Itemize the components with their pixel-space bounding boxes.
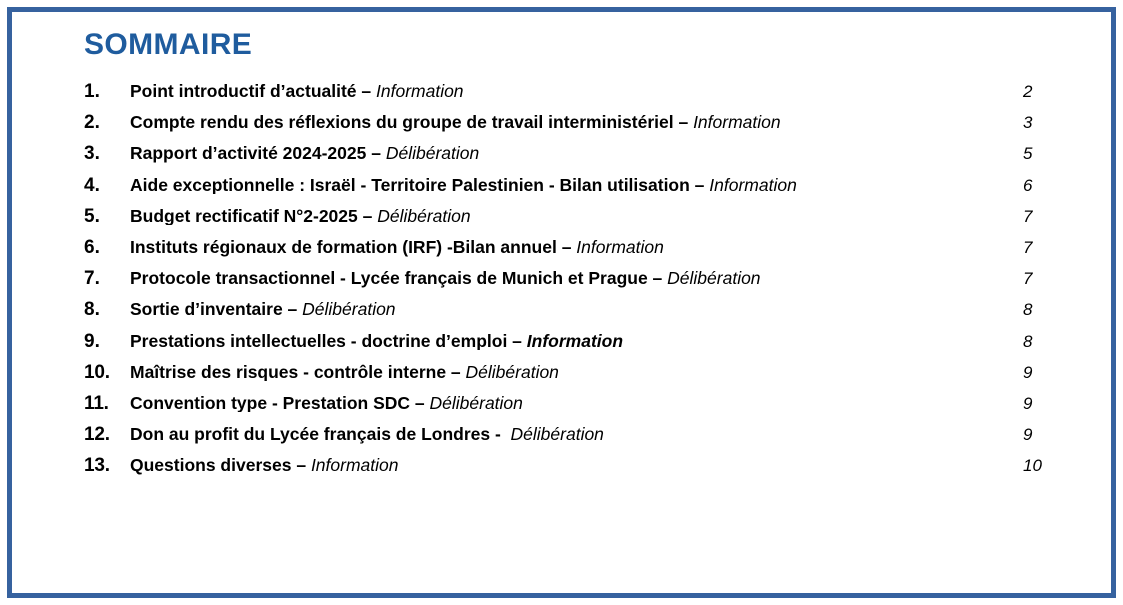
toc-entry[interactable]: 8.Sortie d’inventaire – Délibération8 — [84, 294, 1087, 325]
toc-entry-number: 12. — [84, 425, 130, 444]
toc-entry-separator: – — [446, 364, 465, 382]
toc-entry-page-number: 7 — [1001, 239, 1087, 256]
document-page: SOMMAIRE 1.Point introductif d’actualité… — [0, 0, 1123, 605]
toc-entry-separator: – — [366, 145, 385, 163]
toc-entry[interactable]: 11.Convention type - Prestation SDC – Dé… — [84, 388, 1087, 419]
toc-entry-number: 9. — [84, 332, 130, 351]
toc-entry-label: Point introductif d’actualité — [130, 83, 357, 101]
toc-entry[interactable]: 9.Prestations intellectuelles - doctrine… — [84, 326, 1087, 357]
toc-entry-page-number: 8 — [1001, 301, 1087, 318]
toc-entry-text: Convention type - Prestation SDC – Délib… — [130, 395, 1001, 413]
toc-entry-text: Compte rendu des réflexions du groupe de… — [130, 114, 1001, 132]
toc-entry-separator: – — [557, 239, 576, 257]
toc-entry[interactable]: 2.Compte rendu des réflexions du groupe … — [84, 107, 1087, 138]
toc-entry-kind: Information — [527, 333, 623, 351]
toc-entry-separator: – — [358, 208, 377, 226]
toc-entry-text: Don au profit du Lycée français de Londr… — [130, 426, 1001, 444]
toc-entry[interactable]: 7.Protocole transactionnel - Lycée franç… — [84, 263, 1087, 294]
toc-entry[interactable]: 3.Rapport d’activité 2024-2025 – Délibér… — [84, 138, 1087, 169]
toc-entry-separator: – — [674, 114, 693, 132]
toc-entry-page-number: 9 — [1001, 426, 1087, 443]
toc-entry-text: Rapport d’activité 2024-2025 – Délibérat… — [130, 145, 1001, 163]
toc-entry-text: Point introductif d’actualité – Informat… — [130, 83, 1001, 101]
toc-entry-number: 5. — [84, 207, 130, 226]
toc-entry-label: Budget rectificatif N°2-2025 — [130, 208, 358, 226]
toc-entry-separator: – — [291, 457, 310, 475]
toc-entry-kind: Délibération — [511, 426, 604, 444]
table-of-contents: 1.Point introductif d’actualité – Inform… — [84, 76, 1087, 481]
toc-entry-label: Don au profit du Lycée français de Londr… — [130, 426, 490, 444]
toc-entry-label: Maîtrise des risques - contrôle interne — [130, 364, 446, 382]
toc-entry[interactable]: 6.Instituts régionaux de formation (IRF)… — [84, 232, 1087, 263]
toc-entry-label: Protocole transactionnel - Lycée françai… — [130, 270, 648, 288]
toc-entry-kind: Délibération — [377, 208, 470, 226]
toc-entry-number: 1. — [84, 82, 130, 101]
toc-entry-text: Questions diverses – Information — [130, 457, 1001, 475]
toc-entry-text: Aide exceptionnelle : Israël - Territoir… — [130, 177, 1001, 195]
toc-entry-label: Compte rendu des réflexions du groupe de… — [130, 114, 674, 132]
toc-entry-label: Convention type - Prestation SDC — [130, 395, 410, 413]
toc-entry-kind: Délibération — [302, 301, 395, 319]
toc-entry-page-number: 6 — [1001, 177, 1087, 194]
toc-entry[interactable]: 5.Budget rectificatif N°2-2025 – Délibér… — [84, 201, 1087, 232]
toc-entry-label: Rapport d’activité 2024-2025 — [130, 145, 366, 163]
toc-entry-separator: – — [357, 83, 376, 101]
toc-entry[interactable]: 13.Questions diverses – Information10 — [84, 450, 1087, 481]
toc-entry-text: Sortie d’inventaire – Délibération — [130, 301, 1001, 319]
toc-entry-number: 11. — [84, 394, 130, 413]
toc-entry-label: Instituts régionaux de formation (IRF) -… — [130, 239, 557, 257]
toc-entry-number: 4. — [84, 176, 130, 195]
toc-entry-text: Instituts régionaux de formation (IRF) -… — [130, 239, 1001, 257]
toc-entry[interactable]: 1.Point introductif d’actualité – Inform… — [84, 76, 1087, 107]
toc-entry-page-number: 8 — [1001, 333, 1087, 350]
toc-entry-separator: – — [507, 333, 526, 351]
toc-entry-number: 8. — [84, 300, 130, 319]
toc-entry-text: Maîtrise des risques - contrôle interne … — [130, 364, 1001, 382]
toc-entry-page-number: 2 — [1001, 83, 1087, 100]
toc-entry-kind: Délibération — [466, 364, 559, 382]
toc-entry-number: 2. — [84, 113, 130, 132]
toc-entry-page-number: 3 — [1001, 114, 1087, 131]
toc-entry-kind: Information — [576, 239, 664, 257]
toc-entry-text: Budget rectificatif N°2-2025 – Délibérat… — [130, 208, 1001, 226]
toc-entry-label: Questions diverses — [130, 457, 291, 475]
toc-entry-number: 7. — [84, 269, 130, 288]
toc-entry-kind: Information — [376, 83, 464, 101]
document-content: SOMMAIRE 1.Point introductif d’actualité… — [0, 0, 1123, 605]
toc-entry-separator: – — [648, 270, 667, 288]
toc-entry-separator: – — [410, 395, 429, 413]
toc-entry-text: Protocole transactionnel - Lycée françai… — [130, 270, 1001, 288]
toc-entry-kind: Information — [693, 114, 781, 132]
toc-entry-kind: Délibération — [430, 395, 523, 413]
toc-entry-page-number: 7 — [1001, 208, 1087, 225]
toc-entry-kind: Délibération — [667, 270, 760, 288]
toc-entry-kind: Délibération — [386, 145, 479, 163]
toc-entry-separator: – — [283, 301, 302, 319]
page-title: SOMMAIRE — [84, 30, 1087, 60]
toc-entry-page-number: 10 — [1001, 457, 1087, 474]
toc-entry-number: 6. — [84, 238, 130, 257]
toc-entry-label: Sortie d’inventaire — [130, 301, 283, 319]
toc-entry-page-number: 5 — [1001, 145, 1087, 162]
toc-entry-page-number: 9 — [1001, 364, 1087, 381]
toc-entry-number: 10. — [84, 363, 130, 382]
toc-entry-separator: - — [490, 426, 510, 444]
toc-entry-label: Prestations intellectuelles - doctrine d… — [130, 333, 507, 351]
toc-entry[interactable]: 10.Maîtrise des risques - contrôle inter… — [84, 357, 1087, 388]
toc-entry-kind: Information — [709, 177, 797, 195]
toc-entry[interactable]: 4.Aide exceptionnelle : Israël - Territo… — [84, 170, 1087, 201]
toc-entry-number: 13. — [84, 456, 130, 475]
toc-entry-page-number: 9 — [1001, 395, 1087, 412]
toc-entry-page-number: 7 — [1001, 270, 1087, 287]
toc-entry-number: 3. — [84, 144, 130, 163]
toc-entry-separator: – — [690, 177, 709, 195]
toc-entry[interactable]: 12.Don au profit du Lycée français de Lo… — [84, 419, 1087, 450]
toc-entry-text: Prestations intellectuelles - doctrine d… — [130, 333, 1001, 351]
toc-entry-kind: Information — [311, 457, 399, 475]
toc-entry-label: Aide exceptionnelle : Israël - Territoir… — [130, 177, 690, 195]
